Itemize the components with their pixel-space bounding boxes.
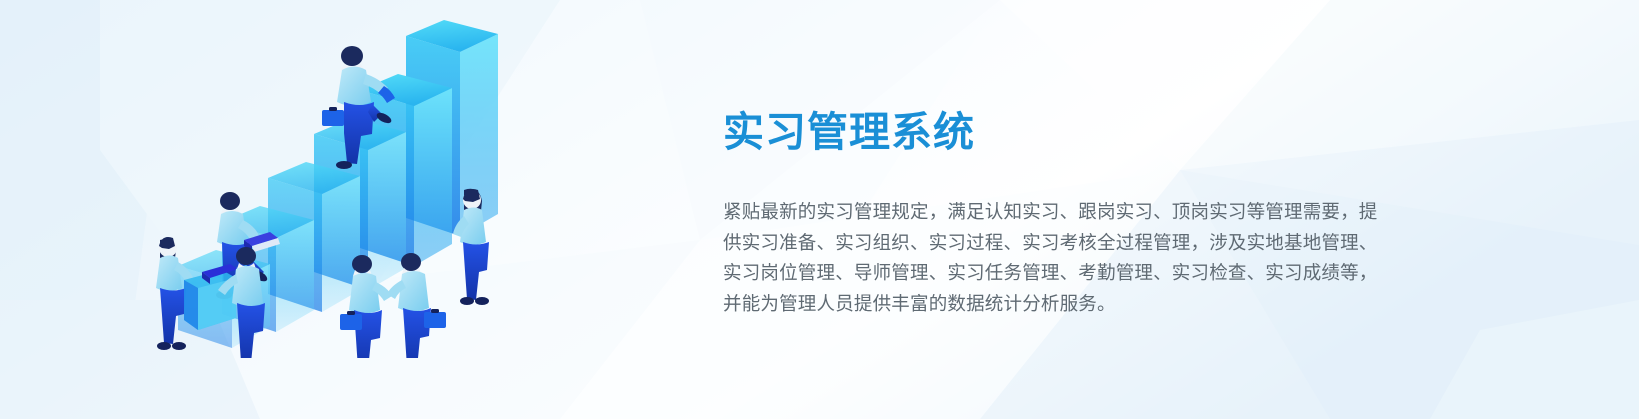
description-line-2: 供实习准备、实习组织、实习过程、实习考核全过程管理，涉及实地基地管理、 — [723, 228, 1399, 259]
growth-chart-illustration — [148, 18, 498, 358]
hero-banner: 实习管理系统 紧贴最新的实习管理规定，满足认知实习、跟岗实习、顶岗实习等管理需要… — [0, 0, 1639, 419]
description-line-4: 并能为管理人员提供丰富的数据统计分析服务。 — [723, 289, 1399, 320]
description-line-3: 实习岗位管理、导师管理、实习任务管理、考勤管理、实习检查、实习成绩等， — [723, 258, 1399, 289]
description-line-1: 紧贴最新的实习管理规定，满足认知实习、跟岗实习、顶岗实习等管理需要，提 — [723, 197, 1399, 228]
page-title: 实习管理系统 — [723, 107, 975, 157]
banner-content: 实习管理系统 紧贴最新的实习管理规定，满足认知实习、跟岗实习、顶岗实习等管理需要… — [723, 0, 1423, 419]
banner-description: 紧贴最新的实习管理规定，满足认知实习、跟岗实习、顶岗实习等管理需要，提 供实习准… — [723, 197, 1399, 319]
